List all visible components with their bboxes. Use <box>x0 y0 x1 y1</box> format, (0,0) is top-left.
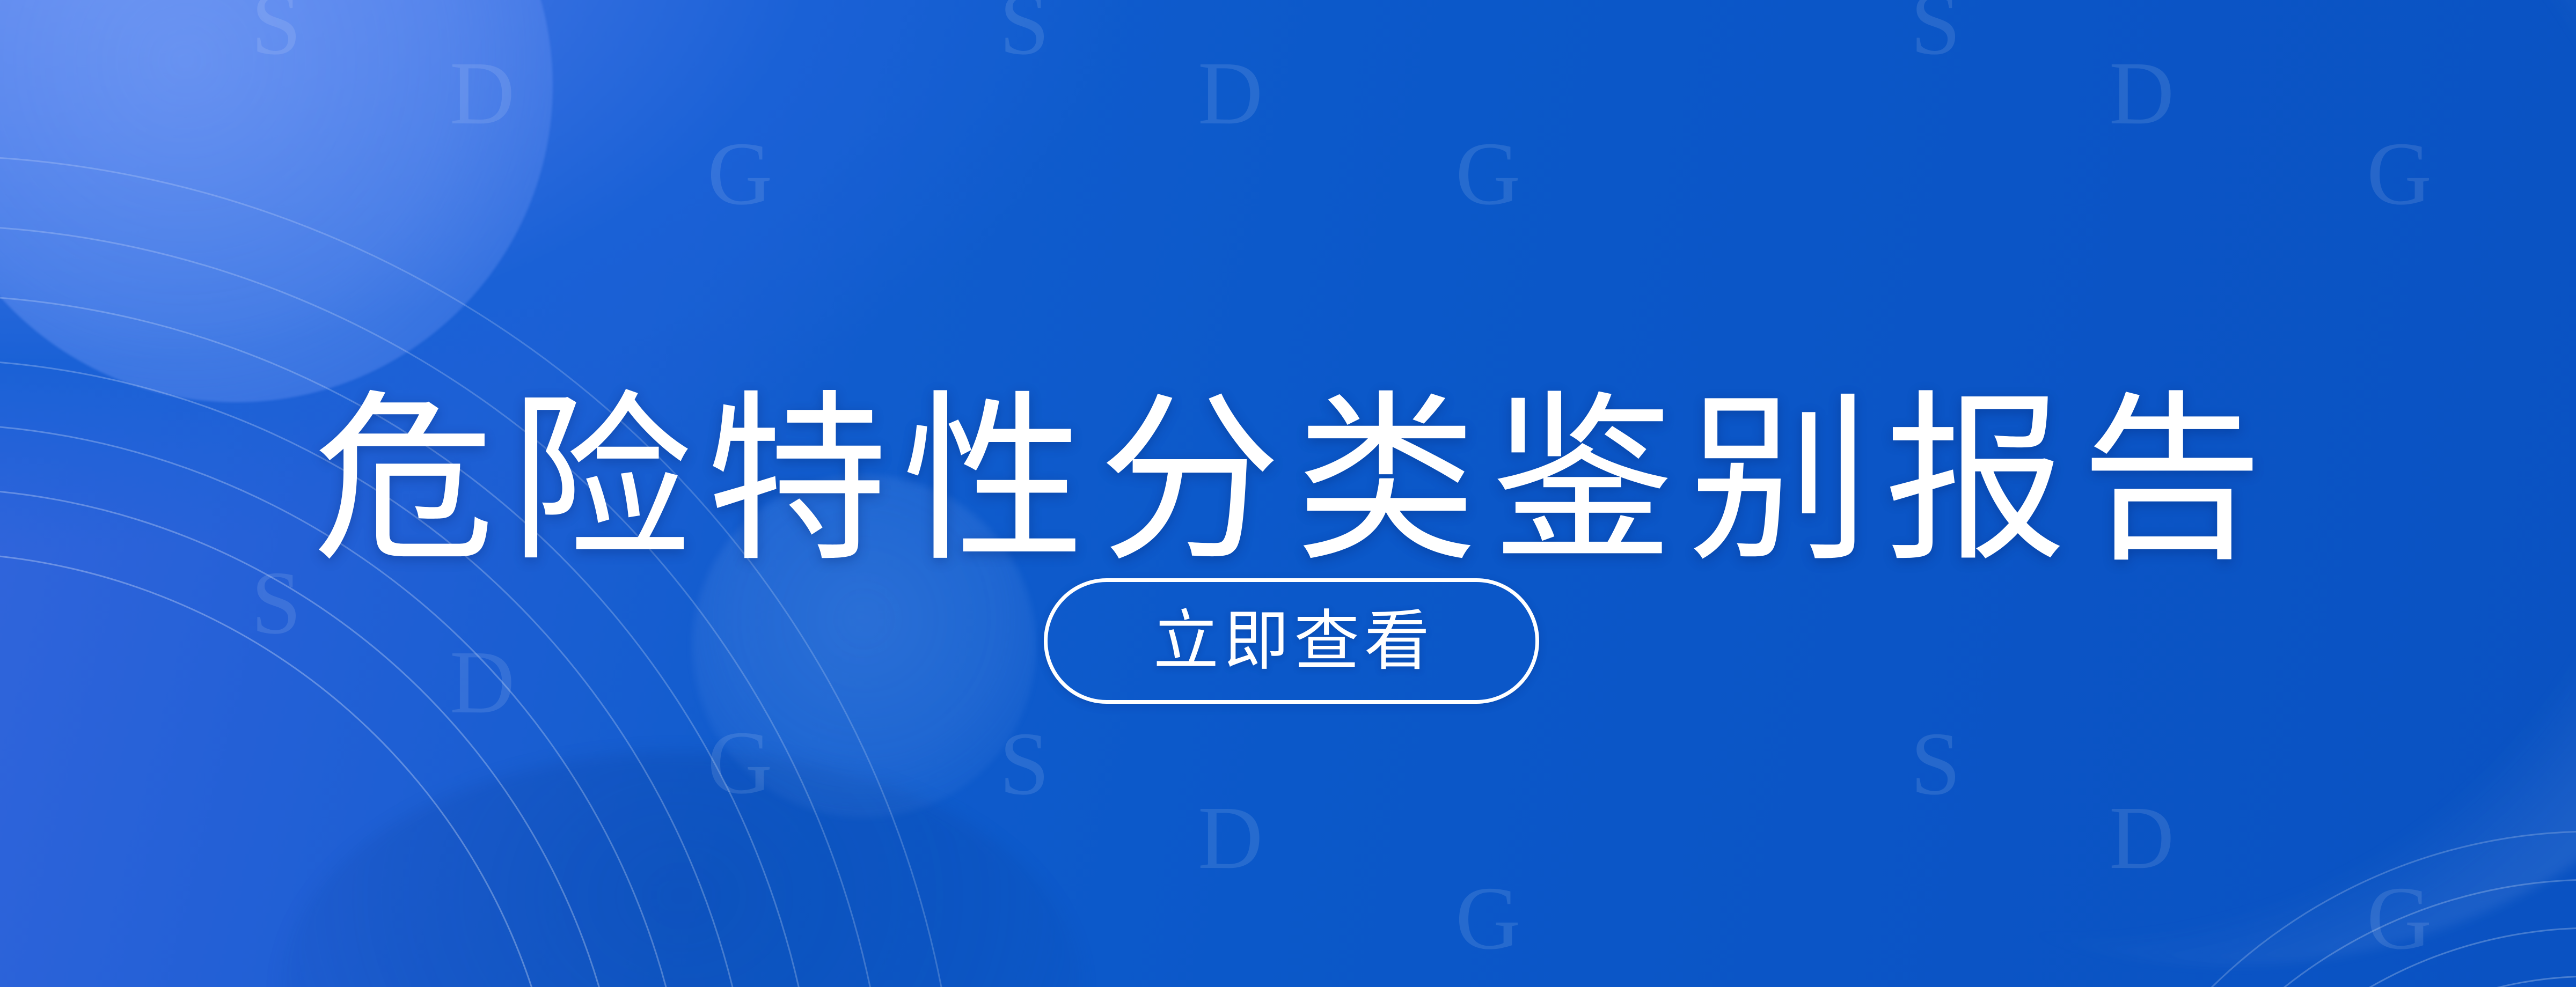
promo-banner: SDGSDGSDGSDGSDGSDG 危险特性分类鉴别报告 立即查看 <box>0 0 2576 987</box>
page-title: 危险特性分类鉴别报告 <box>0 389 2576 572</box>
view-now-button-label: 立即查看 <box>1148 608 1435 674</box>
view-now-button[interactable]: 立即查看 <box>1044 578 1539 704</box>
banner-content: 危险特性分类鉴别报告 立即查看 <box>0 0 2576 987</box>
